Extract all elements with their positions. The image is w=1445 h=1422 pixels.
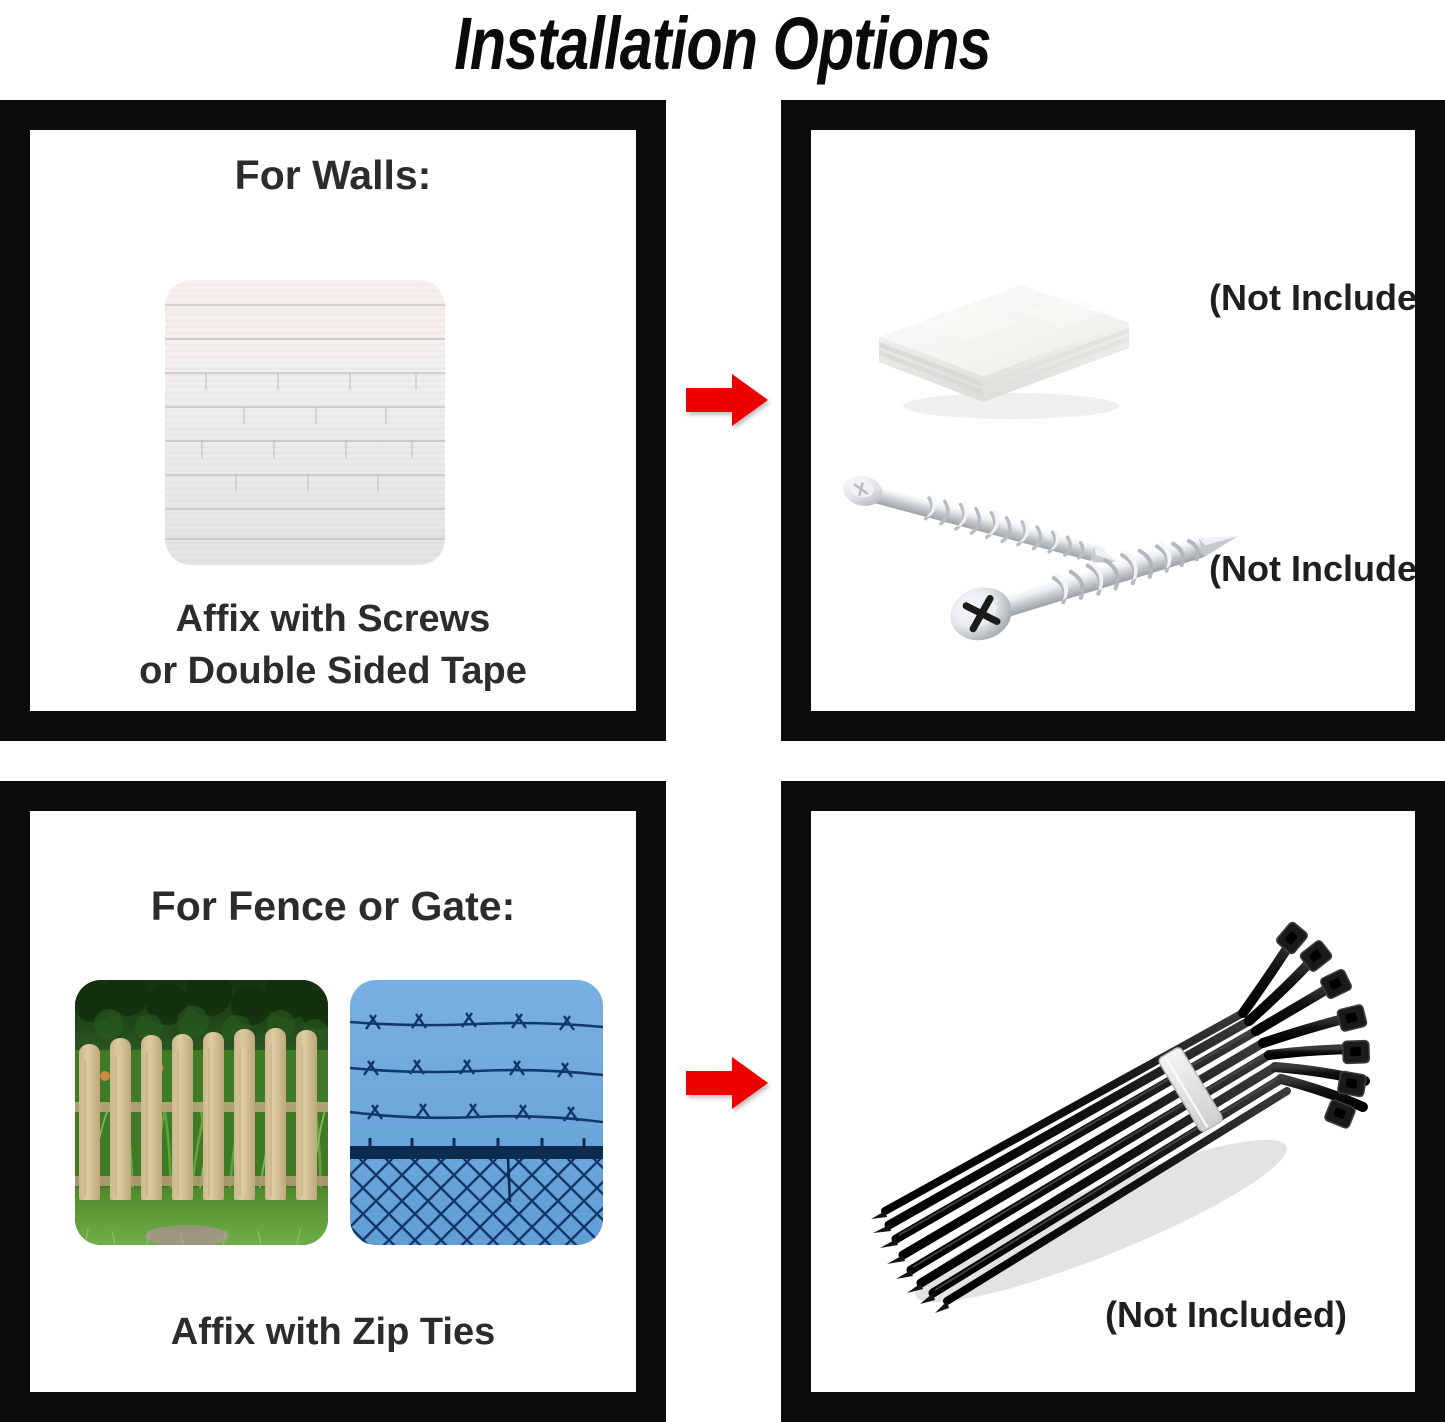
walls-caption-line-1: Affix with Screws: [30, 598, 636, 641]
panel-fence-fixings: (Not Included): [781, 781, 1445, 1422]
for-fence-heading: For Fence or Gate:: [30, 883, 636, 930]
fence-caption: Affix with Zip Ties: [30, 1311, 636, 1354]
panel-wall-fixings: (Not Included): [781, 100, 1445, 741]
panel-wall-fixings-content: (Not Included): [811, 130, 1415, 711]
for-walls-heading: For Walls:: [30, 152, 636, 199]
panel-for-fence-or-gate: For Fence or Gate:: [0, 781, 666, 1422]
screws-not-included-label: (Not Included): [1209, 548, 1415, 590]
walls-caption-line-2: or Double Sided Tape: [30, 650, 636, 693]
black-zip-ties-bundle-photo: [851, 921, 1371, 1321]
red-right-arrow-icon: [686, 1055, 768, 1111]
panel-for-fence-content: For Fence or Gate:: [30, 811, 636, 1392]
panel-for-walls: For Walls:: [0, 100, 666, 741]
panel-fence-fixings-content: (Not Included): [811, 811, 1415, 1392]
white-brick-wall-photo: [165, 280, 445, 565]
tape-not-included-label: (Not Included): [1209, 277, 1415, 319]
zip-ties-not-included-label: (Not Included): [1105, 1294, 1347, 1336]
page-title: Installation Options: [145, 2, 1301, 88]
panel-for-walls-content: For Walls:: [30, 130, 636, 711]
double-sided-tape-stack-photo: [871, 250, 1141, 425]
wooden-picket-fence-photo: [75, 980, 328, 1245]
installation-options-infographic: Installation Options For Walls:: [0, 0, 1445, 1422]
red-right-arrow-icon: [686, 372, 768, 428]
chain-link-barbed-wire-fence-photo: [350, 980, 603, 1245]
